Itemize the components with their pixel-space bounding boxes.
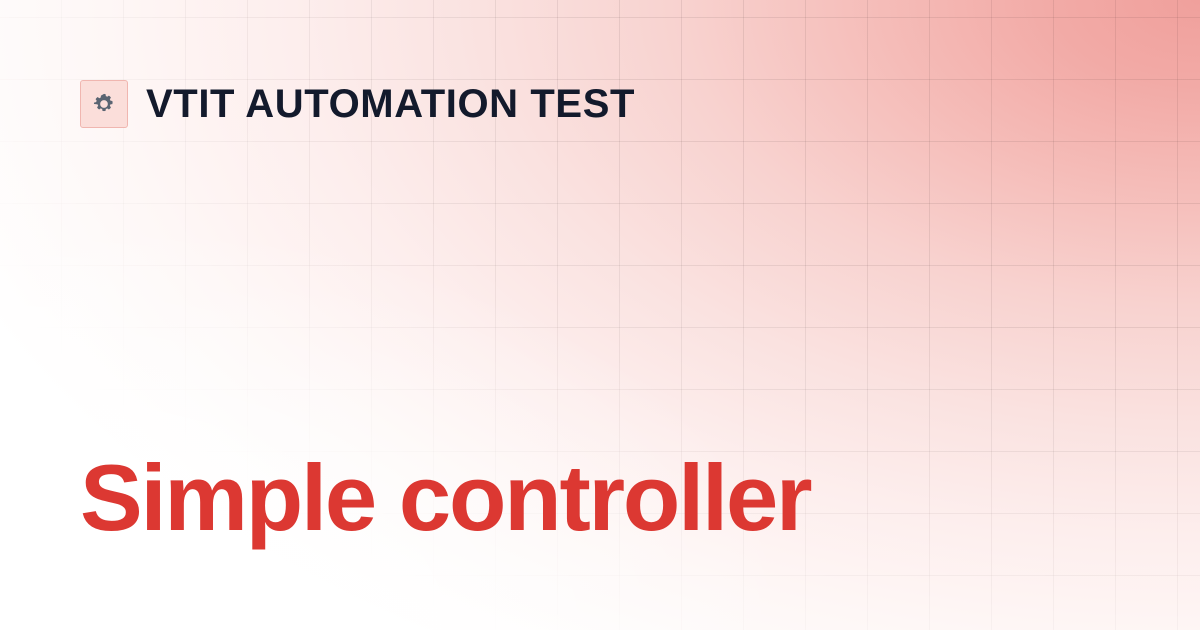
social-preview-card: VTIT AUTOMATION TEST Simple controller xyxy=(0,0,1200,630)
brand-title: VTIT AUTOMATION TEST xyxy=(146,84,635,124)
gear-icon xyxy=(92,92,116,116)
page-title: Simple controller xyxy=(80,449,810,548)
gear-icon-badge xyxy=(80,80,128,128)
card-content: VTIT AUTOMATION TEST Simple controller xyxy=(0,0,1200,630)
brand-header: VTIT AUTOMATION TEST xyxy=(80,80,635,128)
